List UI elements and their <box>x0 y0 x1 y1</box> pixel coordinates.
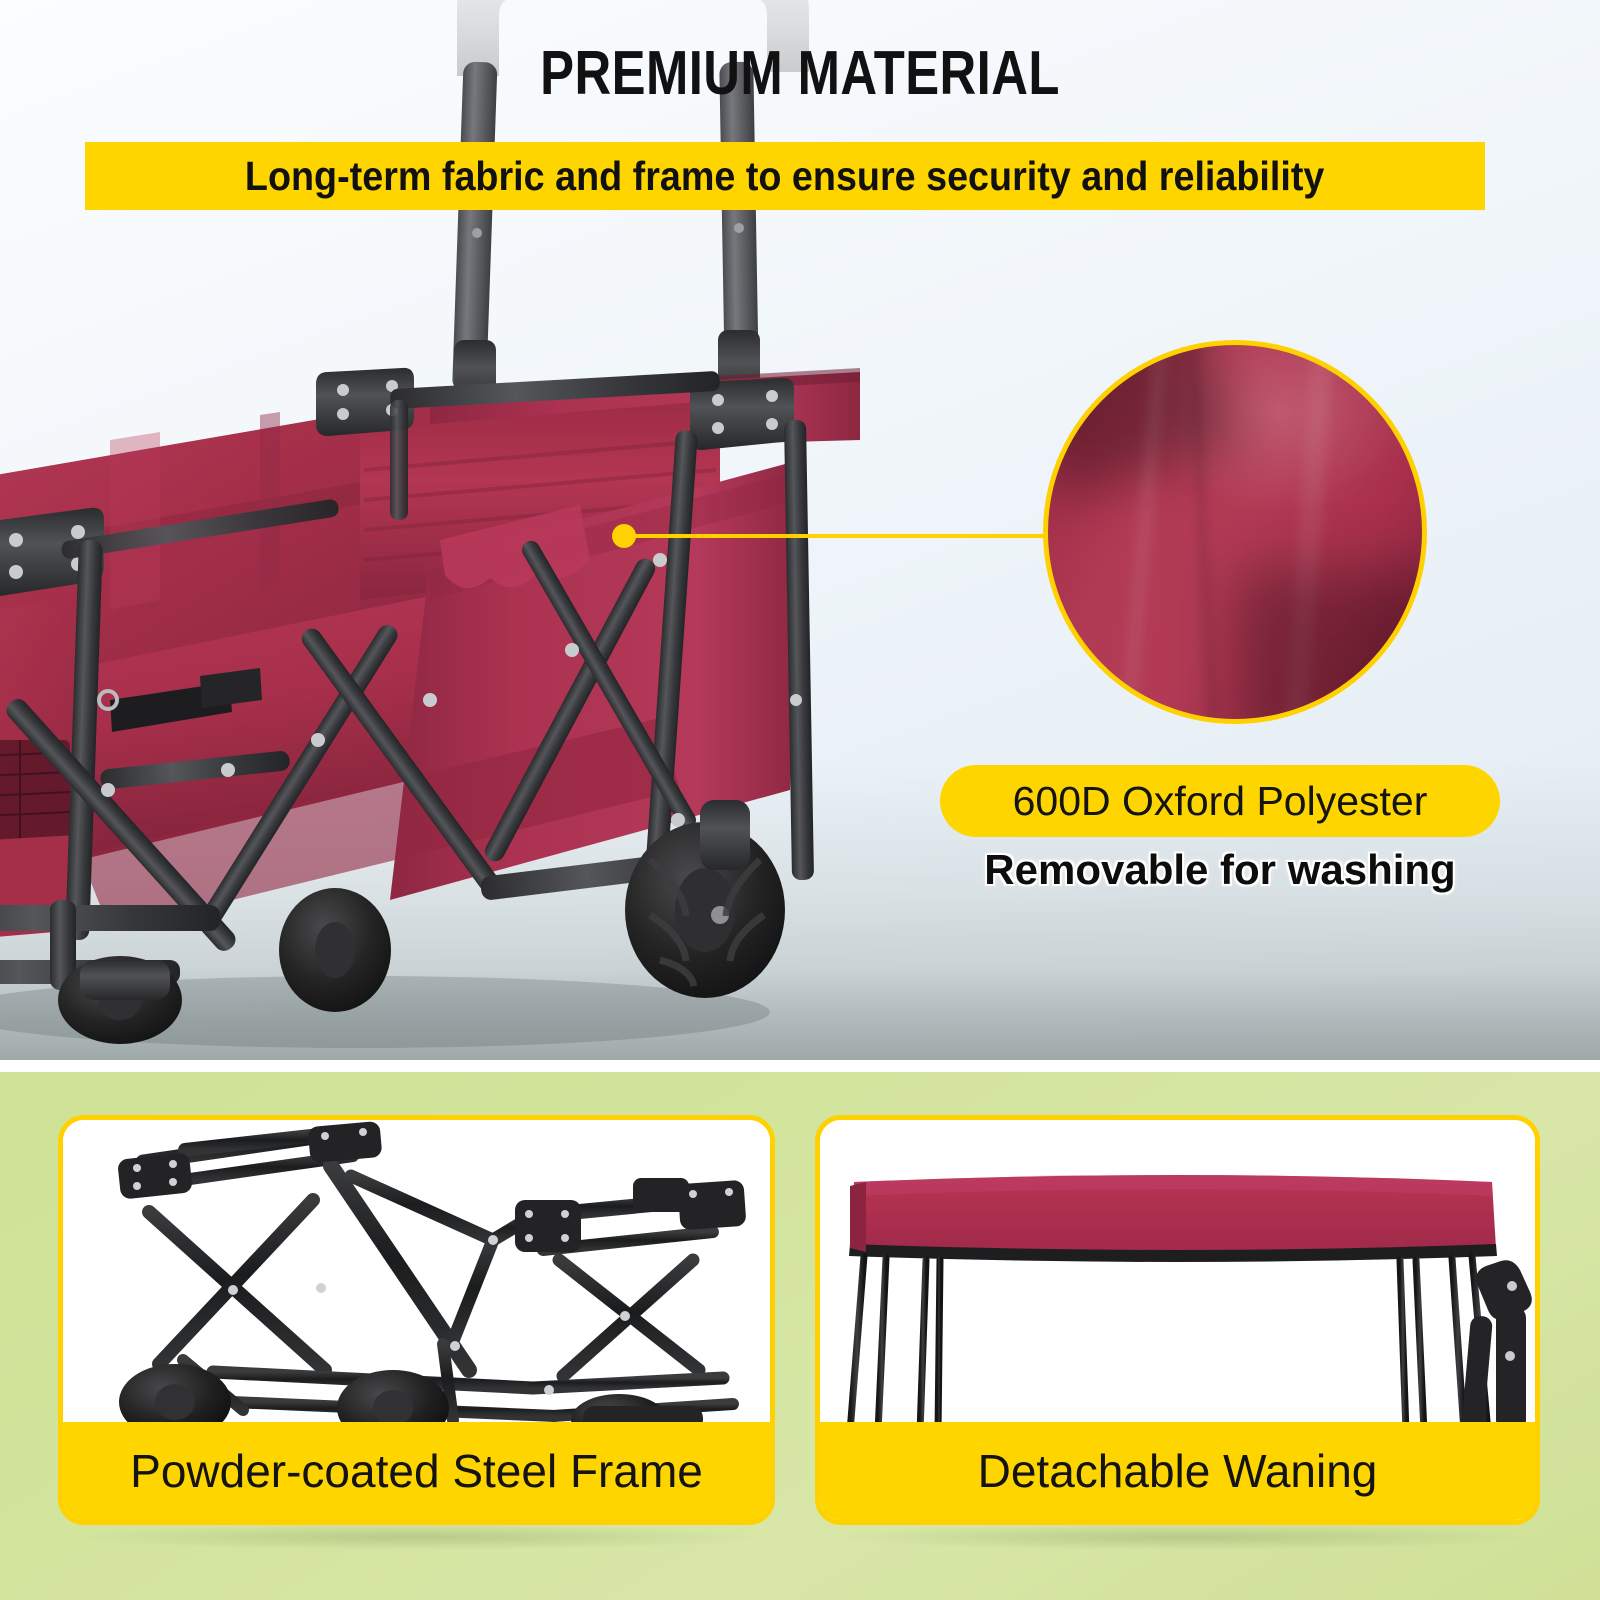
premium-material-section: PREMIUM MATERIAL Long-term fabric and fr… <box>0 0 1600 1060</box>
cart-post-far-right <box>784 420 814 880</box>
material-note: Removable for washing <box>940 846 1500 894</box>
cart-wheel-rear <box>279 888 391 1012</box>
subtitle-text: Long-term fabric and frame to ensure sec… <box>245 153 1324 200</box>
awning-image <box>820 1120 1535 1432</box>
fabric-zoom-circle <box>1043 340 1427 724</box>
callout-leader-line <box>623 534 1047 538</box>
awning-illustration <box>820 1120 1535 1432</box>
awning-caption-bar: Detachable Waning <box>820 1422 1535 1520</box>
feature-cards-section: Powder-coated Steel Frame <box>0 1072 1600 1600</box>
page-title: PREMIUM MATERIAL <box>144 38 1456 109</box>
awning-caption: Detachable Waning <box>978 1444 1378 1498</box>
callout-anchor-dot <box>612 524 636 548</box>
folded-frame-illustration <box>63 1120 770 1432</box>
feature-card-steel-frame: Powder-coated Steel Frame <box>58 1115 775 1525</box>
material-label: 600D Oxford Polyester <box>1013 778 1428 825</box>
section-divider <box>0 1060 1600 1072</box>
steel-frame-caption: Powder-coated Steel Frame <box>130 1444 703 1498</box>
subtitle-banner: Long-term fabric and frame to ensure sec… <box>85 142 1485 210</box>
material-pill: 600D Oxford Polyester <box>940 765 1500 837</box>
steel-frame-image <box>63 1120 770 1432</box>
steel-frame-caption-bar: Powder-coated Steel Frame <box>63 1422 770 1520</box>
card-shadow-right <box>835 1524 1525 1550</box>
product-infographic: PREMIUM MATERIAL Long-term fabric and fr… <box>0 0 1600 1600</box>
feature-card-awning: Detachable Waning <box>815 1115 1540 1525</box>
card-shadow-left <box>78 1524 758 1550</box>
